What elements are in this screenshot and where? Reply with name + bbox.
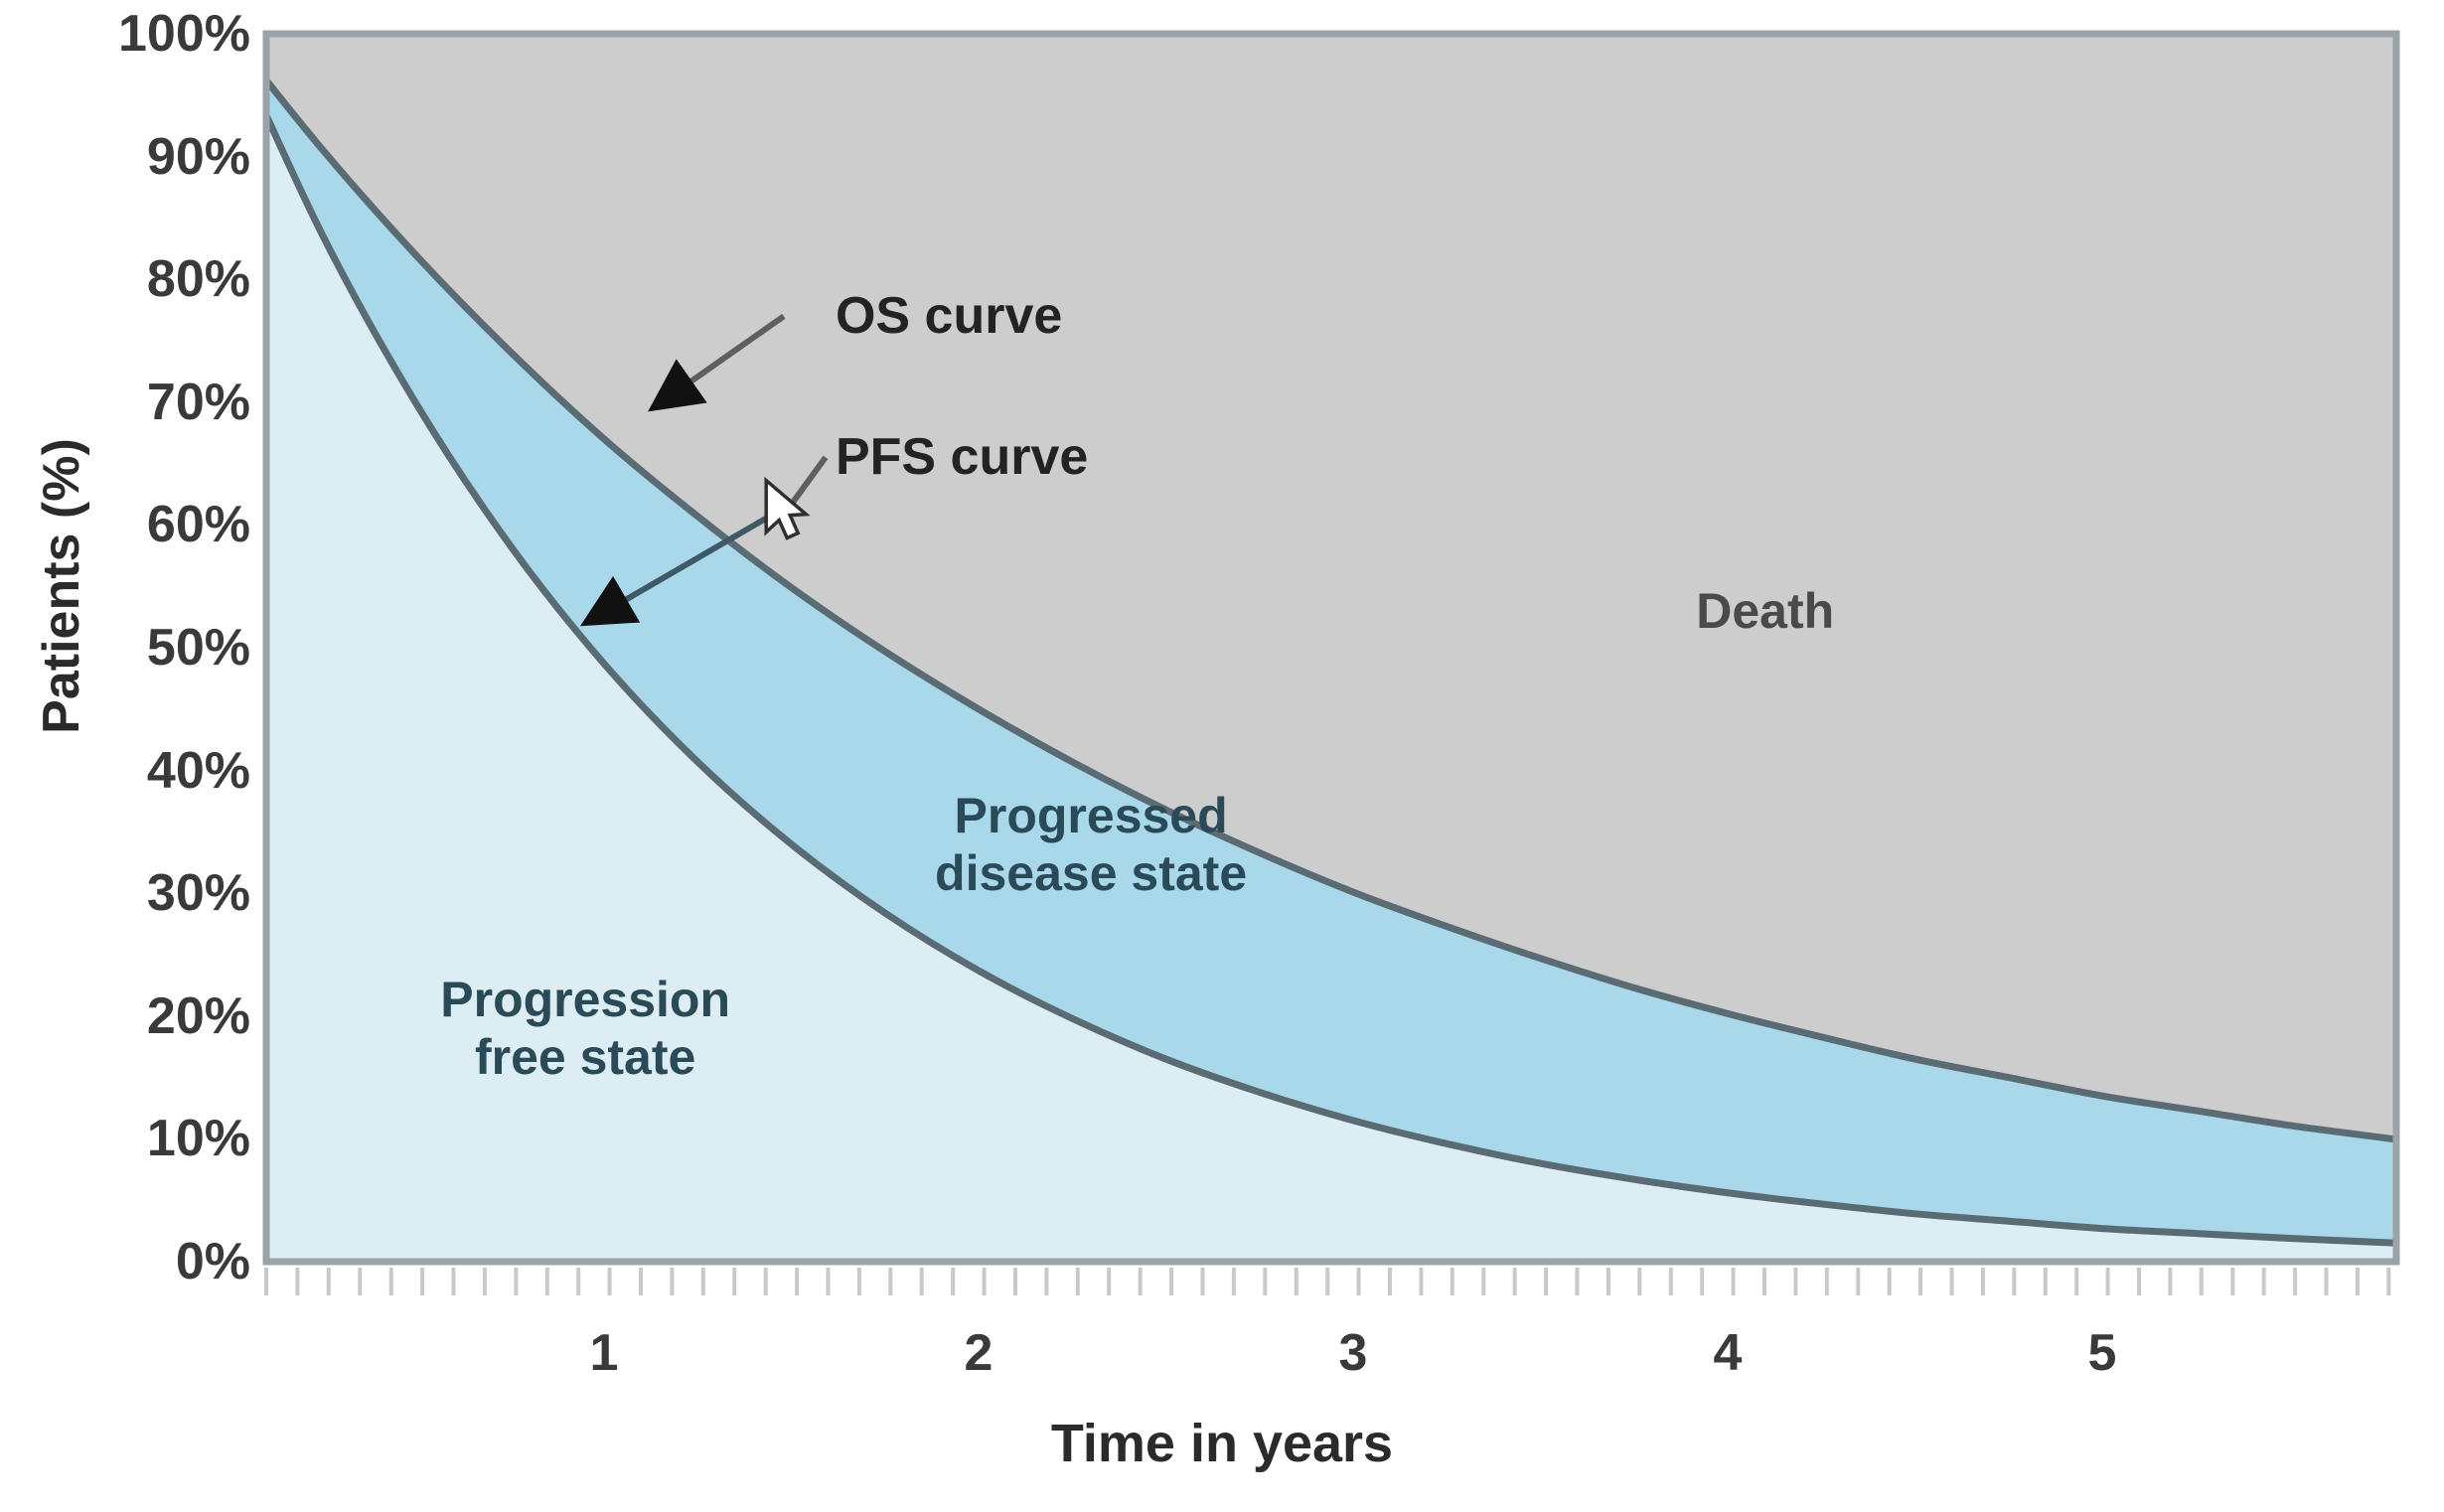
pfs-curve-callout: PFS curve [836,427,1088,487]
chart-figure: Patients (%) 0%10%20%30%40%50%60%70%80%9… [0,0,2444,1512]
os-curve-callout: OS curve [836,286,1062,346]
callout-labels: OS curvePFS curve [0,0,2444,1512]
